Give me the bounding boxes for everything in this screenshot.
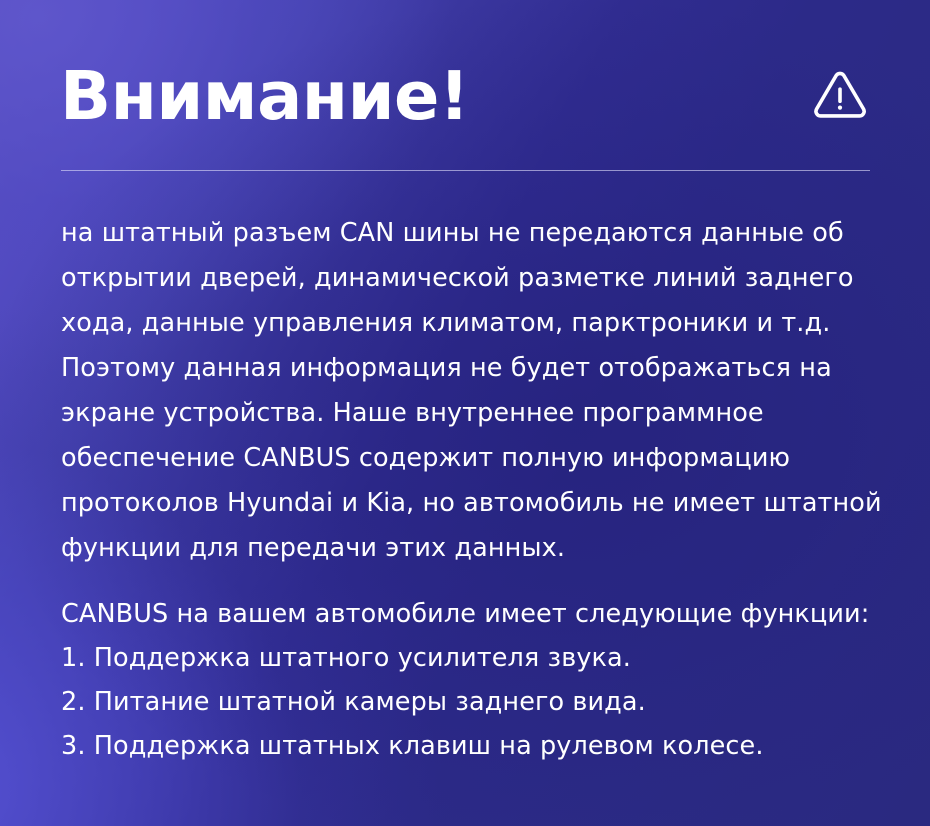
list-item: 2. Питание штатной камеры заднего вида.	[61, 680, 883, 724]
paragraph-line: обеспечение CANBUS содержит полную инфор…	[61, 436, 883, 481]
paragraph-line: хода, данные управления климатом, парктр…	[61, 301, 883, 346]
list-item: 3. Поддержка штатных клавиш на рулевом к…	[61, 724, 883, 768]
functions-list-block: CANBUS на вашем автомобиле имеет следующ…	[61, 592, 883, 768]
paragraph-line: функции для передачи этих данных.	[61, 526, 883, 571]
list-item: 1. Поддержка штатного усилителя звука.	[61, 636, 883, 680]
poster-content: Внимание! на штатный разъем CAN шины не …	[0, 0, 930, 826]
paragraph-line: экране устройства. Наше внутреннее прогр…	[61, 391, 883, 436]
functions-list-intro: CANBUS на вашем автомобиле имеет следующ…	[61, 592, 883, 636]
paragraph-block: на штатный разъем CAN шины не передаются…	[61, 211, 883, 571]
paragraph-line: на штатный разъем CAN шины не передаются…	[61, 211, 883, 256]
warning-poster: Внимание! на штатный разъем CAN шины не …	[0, 0, 930, 826]
warning-triangle-icon	[812, 68, 868, 124]
paragraph-line: протоколов Hyundai и Kia, но автомобиль …	[61, 481, 883, 526]
paragraph-line: открытии дверей, динамической разметке л…	[61, 256, 883, 301]
paragraph-line: Поэтому данная информация не будет отобр…	[61, 346, 883, 391]
page-title: Внимание!	[60, 63, 469, 130]
poster-header: Внимание!	[60, 47, 870, 145]
header-divider	[61, 170, 870, 171]
